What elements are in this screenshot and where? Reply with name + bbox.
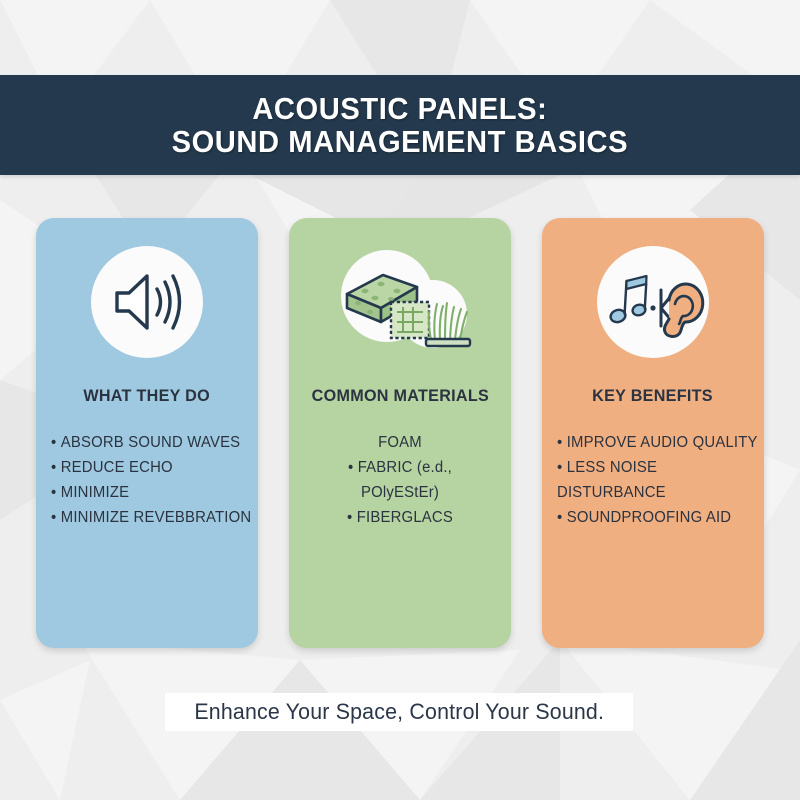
footer-tagline-box: Enhance Your Space, Control Your Sound. xyxy=(165,693,633,731)
list-item: ABSORB SOUND WAVES xyxy=(51,430,264,455)
header-banner: ACOUSTIC PANELS: SOUND MANAGEMENT BASICS xyxy=(0,75,800,175)
card-heading: KEY BENEFITS xyxy=(593,386,714,406)
card-row: WHAT THEY DO ABSORB SOUND WAVES REDUCE E… xyxy=(36,218,764,648)
list-item: FIBERGLACS xyxy=(293,505,506,530)
list-item: MINIMIZE REVEBBRATION xyxy=(51,505,264,530)
ear-music-notes-icon xyxy=(597,246,709,358)
list-item: FOAM xyxy=(293,430,506,455)
card-list: FOAM FABRIC (e.d., POlyEStEr) FIBERGLACS xyxy=(293,430,506,530)
card-list: ABSORB SOUND WAVES REDUCE ECHO MINIMIZE … xyxy=(30,430,264,530)
card-key-benefits[interactable]: KEY BENEFITS IMPROVE AUDIO QUALITY LESS … xyxy=(542,218,764,648)
list-item: REDUCE ECHO xyxy=(51,455,264,480)
card-heading: COMMON MATERIALS xyxy=(311,386,488,406)
foam-fabric-fiberglass-icon xyxy=(344,246,456,358)
list-item: IMPROVE AUDIO QUALITY xyxy=(557,430,770,455)
card-what-they-do[interactable]: WHAT THEY DO ABSORB SOUND WAVES REDUCE E… xyxy=(36,218,258,648)
list-item: FABRIC (e.d., xyxy=(293,455,506,480)
page-title: ACOUSTIC PANELS: SOUND MANAGEMENT BASICS xyxy=(172,92,629,159)
speaker-sound-waves-icon xyxy=(91,246,203,358)
card-common-materials[interactable]: COMMON MATERIALS FOAM FABRIC (e.d., POly… xyxy=(289,218,511,648)
infographic-poster: ACOUSTIC PANELS: SOUND MANAGEMENT BASICS… xyxy=(0,0,800,800)
list-item: POlyEStEr) xyxy=(293,480,506,505)
card-heading: WHAT THEY DO xyxy=(84,386,211,406)
list-item: SOUNDPROOFING AID xyxy=(557,505,770,530)
page-title-line-2: SOUND MANAGEMENT BASICS xyxy=(172,125,629,158)
list-item: LESS NOISE DISTURBANCE xyxy=(557,455,770,505)
page-title-line-1: ACOUSTIC PANELS: xyxy=(252,91,547,126)
list-item: MINIMIZE xyxy=(51,480,264,505)
footer-tagline: Enhance Your Space, Control Your Sound. xyxy=(194,699,604,725)
card-list: IMPROVE AUDIO QUALITY LESS NOISE DISTURB… xyxy=(536,430,770,530)
